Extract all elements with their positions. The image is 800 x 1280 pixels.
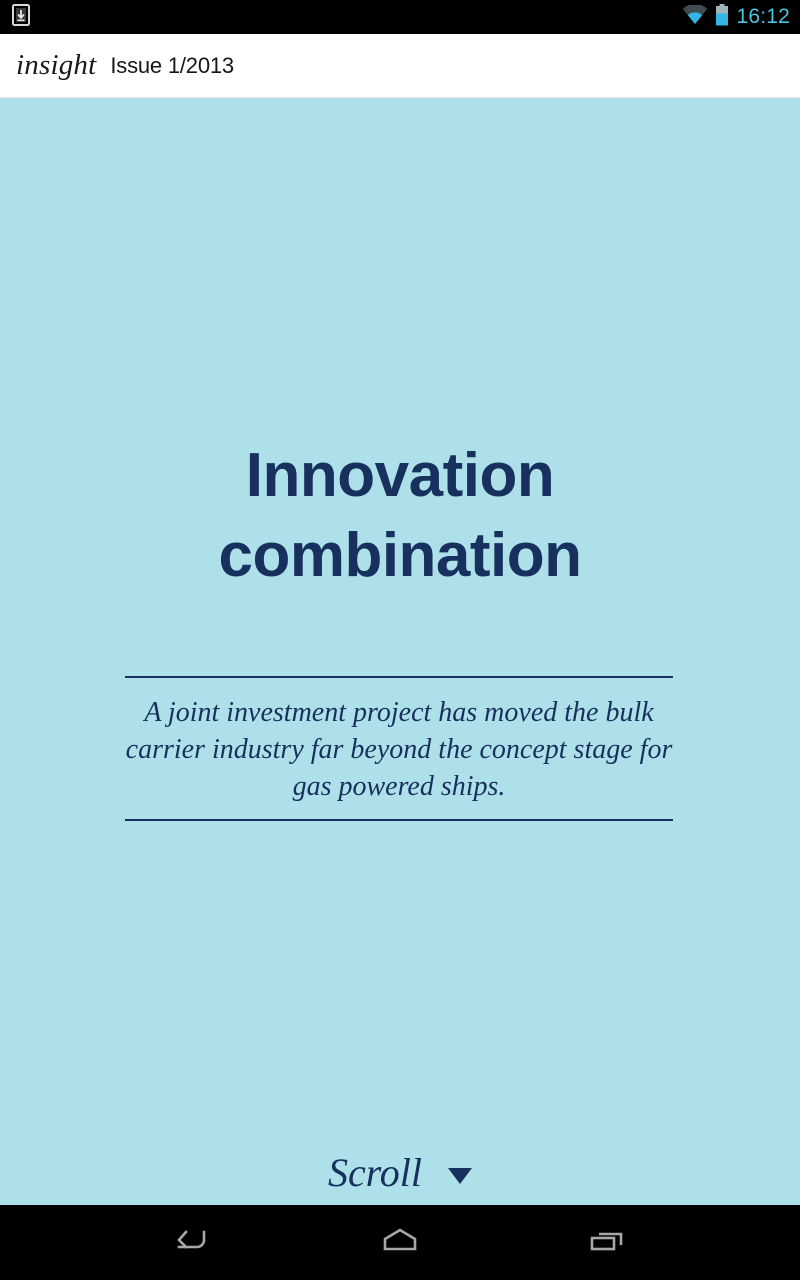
nav-home-button[interactable]	[355, 1213, 445, 1273]
headline-line-1: Innovation	[0, 436, 800, 516]
recent-apps-icon	[585, 1225, 629, 1260]
back-arrow-icon	[171, 1225, 215, 1260]
android-device-screen: 16:12 insight Issue 1/2013 Innovation co…	[0, 0, 800, 1280]
app-header: insight Issue 1/2013	[0, 34, 800, 98]
app-brand-title: insight	[16, 51, 96, 80]
status-bar: 16:12	[0, 0, 800, 34]
article-cover-content: Innovation combination A joint investmen…	[0, 98, 800, 1205]
status-bar-clock: 16:12	[736, 6, 790, 28]
chevron-down-icon[interactable]	[448, 1168, 472, 1184]
scroll-label: Scroll	[328, 1153, 422, 1193]
wifi-icon	[682, 5, 708, 30]
download-to-device-icon	[12, 4, 30, 31]
nav-back-button[interactable]	[148, 1213, 238, 1273]
status-bar-notifications	[12, 4, 30, 31]
article-headline: Innovation combination	[0, 436, 800, 596]
status-bar-indicators: 16:12	[682, 4, 790, 31]
battery-icon	[715, 4, 729, 31]
android-nav-bar	[0, 1205, 800, 1280]
article-excerpt-block: A joint investment project has moved the…	[125, 676, 673, 821]
article-cover[interactable]: Innovation combination A joint investmen…	[0, 98, 800, 1205]
headline-line-2: combination	[0, 516, 800, 596]
scroll-cue[interactable]: Scroll	[0, 1153, 800, 1193]
home-icon	[378, 1225, 422, 1260]
nav-recent-apps-button[interactable]	[562, 1213, 652, 1273]
issue-label: Issue 1/2013	[110, 55, 234, 77]
article-excerpt: A joint investment project has moved the…	[125, 694, 673, 805]
